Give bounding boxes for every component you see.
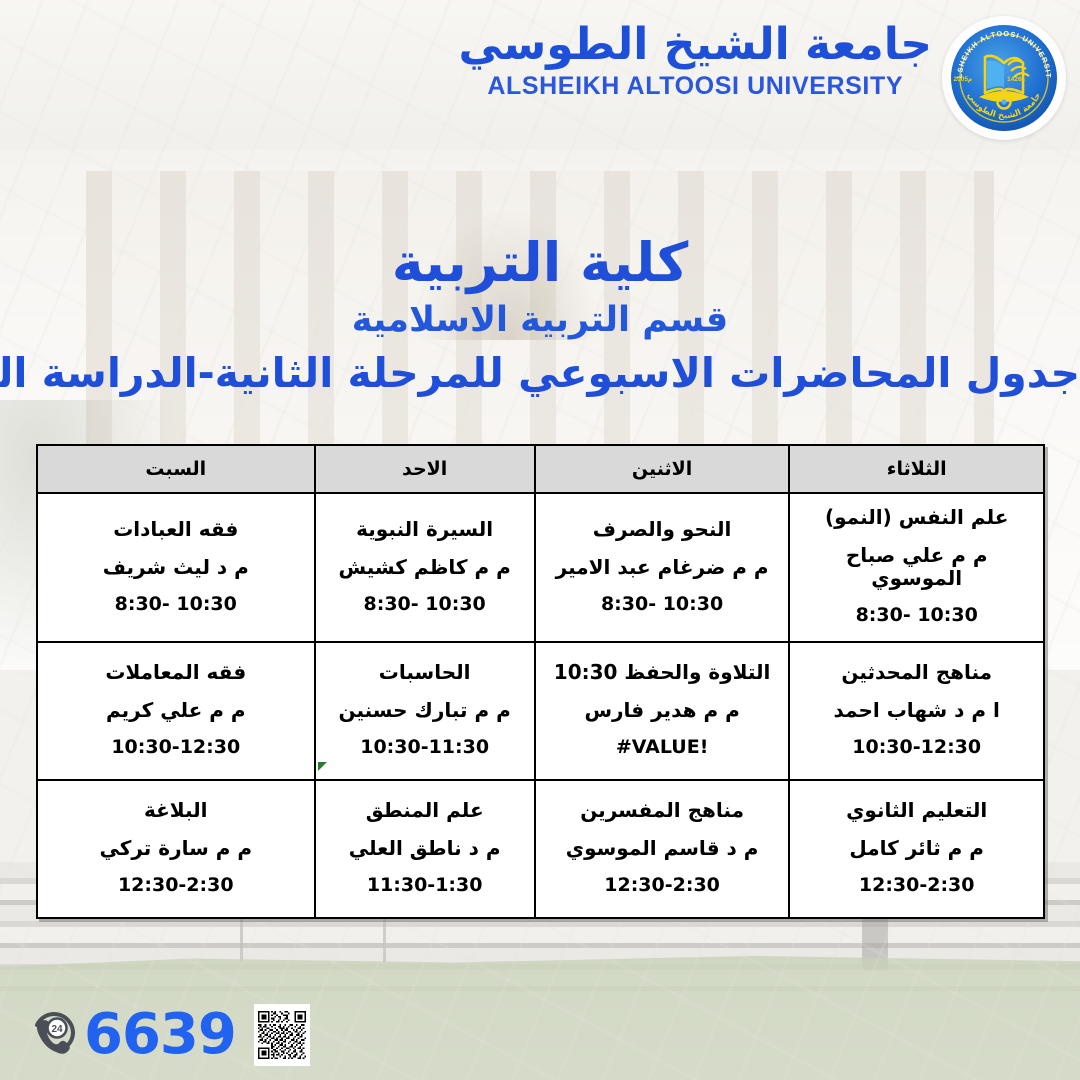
- cell-time: 12:30-2:30: [46, 875, 306, 897]
- cell-teacher: م م علي صباح الموسوي: [798, 544, 1035, 590]
- cell-error-flag-icon: [318, 762, 327, 771]
- svg-text:م2005: م2005: [954, 76, 973, 83]
- cell-time: 10:30-12:30: [798, 737, 1035, 759]
- cell-subject: البلاغة: [46, 799, 306, 822]
- cell-time: 8:30- 10:30: [798, 605, 1035, 627]
- wordmark-english: ALSHEIKH ALTOOSI UNIVERSITY: [458, 72, 932, 101]
- schedule-table-container: الثلاثاء الاثنين الاحد السبت علم النفس (…: [36, 444, 1045, 919]
- wordmark-arabic: جامعة الشيخ الطوسي: [458, 22, 932, 68]
- cell-subject: فقه المعاملات: [46, 661, 306, 684]
- cell-teacher: م م ثائر كامل: [798, 837, 1035, 860]
- schedule-cell: فقه المعاملات م م علي كريم 10:30-12:30: [37, 642, 315, 780]
- poster-footer: 24 6639: [28, 1004, 310, 1066]
- qr-code[interactable]: [254, 1004, 310, 1066]
- cell-time: 8:30- 10:30: [544, 594, 781, 616]
- schedule-cell: التلاوة والحفظ 10:30 م م هدير فارس #VALU…: [535, 642, 790, 780]
- cell-teacher: م م سارة تركي: [46, 837, 306, 860]
- schedule-cell: النحو والصرف م م ضرغام عبد الامير 8:30- …: [535, 493, 790, 642]
- cell-time: 11:30-1:30: [324, 875, 526, 897]
- schedule-cell: مناهج المحدثين ا م د شهاب احمد 10:30-12:…: [789, 642, 1044, 780]
- phone-24h-icon: 24: [28, 1007, 80, 1063]
- cell-teacher: م م ضرغام عبد الامير: [544, 556, 781, 579]
- cell-subject: الحاسبات: [324, 661, 526, 684]
- table-row: علم النفس (النمو) م م علي صباح الموسوي 8…: [37, 493, 1044, 642]
- schedule-title: جدول المحاضرات الاسبوعي للمرحلة الثانية-…: [0, 348, 1080, 399]
- svg-text:24: 24: [51, 1024, 63, 1035]
- cell-subject: مناهج المحدثين: [798, 661, 1035, 684]
- cell-time: 10:30-12:30: [46, 737, 306, 759]
- schedule-table: الثلاثاء الاثنين الاحد السبت علم النفس (…: [36, 444, 1045, 919]
- cell-teacher: م م تبارك حسنين: [324, 699, 526, 722]
- table-row: التعليم الثانوي م م ثائر كامل 12:30-2:30…: [37, 780, 1044, 918]
- cell-time: 10:30-11:30: [324, 737, 526, 759]
- column-header-tuesday: الثلاثاء: [789, 445, 1044, 493]
- cell-teacher: م د ناطق العلي: [324, 837, 526, 860]
- cell-subject: النحو والصرف: [544, 518, 781, 541]
- cell-subject: التلاوة والحفظ 10:30: [544, 661, 781, 684]
- cell-subject: علم المنطق: [324, 799, 526, 822]
- table-row: مناهج المحدثين ا م د شهاب احمد 10:30-12:…: [37, 642, 1044, 780]
- cell-subject: السيرة النبوية: [324, 518, 526, 541]
- cell-time: 12:30-2:30: [544, 875, 781, 897]
- cell-teacher: م م كاظم كشيش: [324, 556, 526, 579]
- table-header-row: الثلاثاء الاثنين الاحد السبت: [37, 445, 1044, 493]
- cell-time: 8:30- 10:30: [46, 594, 306, 616]
- schedule-cell: التعليم الثانوي م م ثائر كامل 12:30-2:30: [789, 780, 1044, 918]
- university-seal-icon: ALSHEIKH ALTOOSI UNIVERSITY جامعة الشيخ …: [942, 16, 1066, 140]
- cell-subject: فقه العبادات: [46, 518, 306, 541]
- poster-header: جامعة الشيخ الطوسي ALSHEIKH ALTOOSI UNIV…: [0, 8, 1080, 148]
- schedule-cell: البلاغة م م سارة تركي 12:30-2:30: [37, 780, 315, 918]
- cell-time: 8:30- 10:30: [324, 594, 526, 616]
- cell-teacher: م د ليث شريف: [46, 556, 306, 579]
- college-title: كلية التربية: [0, 232, 1080, 294]
- schedule-cell: مناهج المفسرين م د قاسم الموسوي 12:30-2:…: [535, 780, 790, 918]
- cell-teacher: م م هدير فارس: [544, 699, 781, 722]
- cell-teacher: ا م د شهاب احمد: [798, 699, 1035, 722]
- poster-canvas: جامعة الشيخ الطوسي ALSHEIKH ALTOOSI UNIV…: [0, 0, 1080, 1080]
- cell-teacher: م م علي كريم: [46, 699, 306, 722]
- schedule-cell: علم النفس (النمو) م م علي صباح الموسوي 8…: [789, 493, 1044, 642]
- cell-subject: علم النفس (النمو): [798, 506, 1035, 529]
- schedule-cell: الحاسبات م م تبارك حسنين 10:30-11:30: [315, 642, 535, 780]
- schedule-cell: السيرة النبوية م م كاظم كشيش 8:30- 10:30: [315, 493, 535, 642]
- hotline-number: 6639: [84, 1007, 236, 1063]
- department-title: قسم التربية الاسلامية: [0, 298, 1080, 344]
- column-header-monday: الاثنين: [535, 445, 790, 493]
- schedule-cell: فقه العبادات م د ليث شريف 8:30- 10:30: [37, 493, 315, 642]
- cell-teacher: م د قاسم الموسوي: [544, 837, 781, 860]
- university-wordmark: جامعة الشيخ الطوسي ALSHEIKH ALTOOSI UNIV…: [458, 22, 932, 101]
- hotline-block[interactable]: 24 6639: [28, 1007, 236, 1063]
- poster-titles: كلية التربية قسم التربية الاسلامية جدول …: [0, 232, 1080, 399]
- column-header-sunday: الاحد: [315, 445, 535, 493]
- cell-subject: مناهج المفسرين: [544, 799, 781, 822]
- column-header-saturday: السبت: [37, 445, 315, 493]
- cell-subject: التعليم الثانوي: [798, 799, 1035, 822]
- schedule-cell: علم المنطق م د ناطق العلي 11:30-1:30: [315, 780, 535, 918]
- cell-time-error: #VALUE!: [544, 737, 781, 759]
- cell-time: 12:30-2:30: [798, 875, 1035, 897]
